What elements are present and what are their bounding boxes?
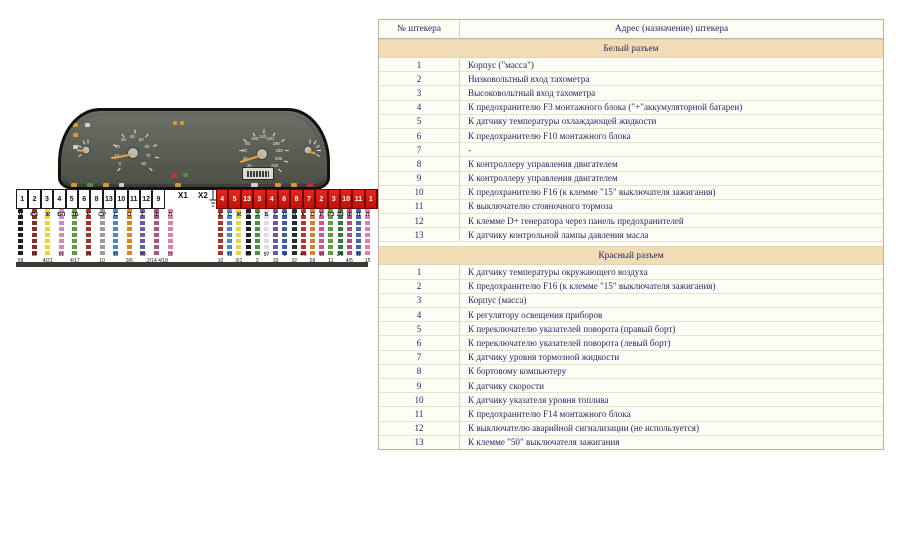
- left-wire-8-color-code: С: [114, 212, 118, 218]
- odometer-display: [242, 167, 274, 180]
- pin-address-cell: К предохранителю F3 монтажного блока ("+…: [460, 101, 883, 114]
- table-row: 8К контроллеру управления двигателем: [379, 157, 883, 171]
- right-wire-6-color-code: Б: [265, 212, 269, 218]
- pin-number-cell: 9: [379, 379, 460, 392]
- left-wire-9-color-code: О: [127, 212, 131, 218]
- pin-address-cell: -: [460, 143, 883, 156]
- telltale-icon-4: [73, 145, 78, 149]
- pin-address-cell: К датчику указателя уровня топлива: [460, 393, 883, 406]
- pin-number-cell: 1: [379, 58, 460, 71]
- bottom-telltale-5: [175, 183, 181, 187]
- table-row: 4К предохранителю F3 монтажного блока ("…: [379, 101, 883, 115]
- pin-address-cell: К переключателю указателей поворота (пра…: [460, 322, 883, 335]
- telltale-icon-2: [85, 123, 90, 127]
- right-wire-1-color-code: К: [219, 212, 222, 218]
- right-wire-7-color-code: Г: [274, 212, 277, 218]
- table-row: 3Корпус (масса): [379, 294, 883, 308]
- x2-pin-2[interactable]: 5: [228, 189, 240, 209]
- speedo-label-2: 60: [242, 149, 247, 153]
- right-wire-8: П: [282, 209, 287, 257]
- left-wire-1: Ч: [18, 209, 23, 257]
- telltale-icon-3: [73, 133, 78, 137]
- right-wire-2-color-code: С: [228, 212, 232, 218]
- left-wire-2: КЧ: [32, 209, 37, 257]
- table-row: 12К клемме D+ генератора через панель пр…: [379, 214, 883, 228]
- pin-number-cell: 7: [379, 351, 460, 364]
- pin-number-cell: 10: [379, 393, 460, 406]
- left-wire-4-tag: 51: [52, 253, 71, 258]
- left-wire-12: Л: [168, 209, 173, 257]
- table-row: 2Низковольтный вход тахометра: [379, 72, 883, 86]
- x2-pin-13[interactable]: 1: [365, 189, 377, 209]
- x1-pin-4[interactable]: 4: [53, 189, 65, 209]
- right-wire-11: О: [310, 209, 315, 257]
- pin-address-cell: К предохранителю F16 (к клемме "15" выкл…: [460, 280, 883, 293]
- left-wire-3: Ж: [45, 209, 50, 257]
- pin-address-cell: К регулятору освещения приборов: [460, 308, 883, 321]
- tach-label-3: 30: [121, 138, 126, 142]
- right-wire-15: Ф: [347, 209, 352, 257]
- bottom-telltale-9: [307, 183, 313, 187]
- table-row: 6К переключателю указателей поворота (ле…: [379, 336, 883, 350]
- left-wire-2-color-code: КЧ: [30, 212, 37, 218]
- instrument-cluster-diagram: 01020304050607080 2040608010012014016018…: [0, 0, 378, 540]
- pin-address-cell: К датчику контрольной лампы давления мас…: [460, 228, 883, 241]
- tach-label-6: 60: [145, 145, 150, 149]
- temperature-gauge: [293, 135, 323, 165]
- section-header-1: Белый разъем: [379, 39, 883, 58]
- right-wire-17-color-code: Л: [366, 212, 370, 218]
- gaugeL-tick-2: [78, 145, 82, 148]
- tach-tick-6: [153, 144, 157, 146]
- bottom-telltale-8: [291, 183, 297, 187]
- table-row: 12К выключателю аварийной сигнализации (…: [379, 422, 883, 436]
- right-wire-14-color-code: ЗЧ: [337, 212, 344, 218]
- header-pin-address: Адрес (назначение) штекера: [460, 20, 883, 38]
- left-wire-4: БП: [59, 209, 64, 257]
- pin-number-cell: 3: [379, 86, 460, 99]
- left-wire-10-color-code: Г: [141, 212, 144, 218]
- left-wire-7: СР: [100, 209, 105, 257]
- table-row: 13К клемме "50" выключателя зажигания: [379, 436, 883, 449]
- tach-tick-0: [118, 167, 122, 171]
- pin-number-cell: 13: [379, 228, 460, 241]
- right-wire-5-color-code: З: [256, 212, 259, 218]
- x1-pin-6[interactable]: 6: [78, 189, 90, 209]
- left-wire-12-color-code: Л: [168, 212, 172, 218]
- tach-label-0: 0: [119, 162, 121, 166]
- bottom-telltale-7: [275, 183, 281, 187]
- speedo-label-5: 120: [259, 135, 266, 139]
- tach-tick-8: [149, 167, 153, 171]
- left-wire-10: Г: [140, 209, 145, 257]
- pin-number-cell: 8: [379, 157, 460, 170]
- table-row: 7-: [379, 143, 883, 157]
- pin-number-cell: 2: [379, 72, 460, 85]
- pin-number-cell: 5: [379, 322, 460, 335]
- table-row: 13К датчику контрольной лампы давления м…: [379, 228, 883, 242]
- pin-address-cell: К контроллеру управления двигателем: [460, 157, 883, 170]
- pin-address-cell: К клемме D+ генератора через панель пред…: [460, 214, 883, 227]
- pin-number-cell: 12: [379, 214, 460, 227]
- left-wire-6: К: [86, 209, 91, 257]
- table-row: 3Высоковольтный вход тахометра: [379, 86, 883, 100]
- table-header-row: № штекера Адрес (назначение) штекера: [379, 20, 883, 39]
- tach-tick-4: [135, 130, 136, 134]
- right-wire-16-color-code: П: [357, 212, 361, 218]
- pin-address-cell: К предохранителю F10 монтажного блока: [460, 129, 883, 142]
- gaugeR-tick-0: [310, 140, 311, 144]
- gaugeL-tick-4: [88, 140, 89, 144]
- pin-number-cell: 2: [379, 280, 460, 293]
- left-wire-2-tag: 11: [25, 253, 44, 258]
- pin-address-cell: Низковольтный вход тахометра: [460, 72, 883, 85]
- pin-number-cell: 1: [379, 265, 460, 278]
- speedo-label-8: 180: [276, 149, 283, 153]
- pin-address-cell: К датчику температуры охлаждающей жидкос…: [460, 115, 883, 128]
- connector-x2-red[interactable]: 451334687231011112: [216, 189, 389, 209]
- harness-busbar: [16, 262, 368, 267]
- pin-address-cell: К датчику температуры окружающего воздух…: [460, 265, 883, 278]
- pin-number-cell: 13: [379, 436, 460, 449]
- right-wire-16: П: [356, 209, 361, 257]
- x1-pin-9[interactable]: 10: [115, 189, 127, 209]
- right-wire-3-color-code: Ж: [236, 212, 241, 218]
- right-wire-2: С: [227, 209, 232, 257]
- right-wire-9: Н: [292, 209, 297, 257]
- x1-pin-8[interactable]: 13: [103, 189, 115, 209]
- right-wire-10: К: [301, 209, 306, 257]
- hazard-warning-icon: [171, 173, 177, 178]
- x2-pin-10[interactable]: 3: [328, 189, 340, 209]
- speedo-tick-5: [264, 130, 265, 134]
- connector-x1-white[interactable]: 1234568131011129: [16, 189, 165, 209]
- connector-x1-label: X1: [178, 191, 188, 200]
- table-row: 1Корпус ("масса"): [379, 58, 883, 72]
- pin-number-cell: 12: [379, 422, 460, 435]
- left-wire-6-color-code: К: [87, 212, 90, 218]
- tach-label-8: 80: [141, 162, 146, 166]
- gaugeR-tick-2: [316, 145, 320, 148]
- right-wire-7: Г: [273, 209, 278, 257]
- right-wire-4-color-code: Ч: [246, 212, 250, 218]
- x1-pin-2[interactable]: 2: [28, 189, 40, 209]
- cluster-face: 01020304050607080 2040608010012014016018…: [65, 115, 323, 184]
- left-wire-4-color-code: БП: [57, 212, 65, 218]
- right-wire-13-color-code: РЗ: [327, 212, 334, 218]
- tach-label-5: 50: [139, 138, 144, 142]
- x2-pin-1[interactable]: 4: [216, 189, 228, 209]
- bottom-telltale-3: [103, 183, 109, 187]
- table-row: 5К датчику температуры охлаждающей жидко…: [379, 115, 883, 129]
- right-wire-13: РЗ: [328, 209, 333, 257]
- tach-tick-7: [155, 157, 159, 159]
- pin-address-cell: Высоковольтный вход тахометра: [460, 86, 883, 99]
- x1-pin-12[interactable]: 9: [152, 189, 164, 209]
- pin-address-cell: К выключателю аварийной сигнализации (не…: [460, 422, 883, 435]
- x2-pin-8[interactable]: 7: [303, 189, 315, 209]
- fuel-gauge: [71, 135, 101, 165]
- table-row: 9К датчику скорости: [379, 379, 883, 393]
- left-wire-8: С: [113, 209, 118, 257]
- right-wire-15-color-code: Ф: [347, 212, 352, 218]
- right-wire-10-color-code: К: [302, 212, 305, 218]
- x2-pin-3[interactable]: 13: [241, 189, 253, 209]
- pin-number-cell: 11: [379, 407, 460, 420]
- gaugeR-tick-3: [317, 150, 321, 151]
- bottom-telltale-2: [87, 183, 93, 187]
- left-wire-7-color-code: СР: [98, 212, 106, 218]
- left-wire-11-color-code: Ф: [154, 212, 159, 218]
- table-row: 1К датчику температуры окружающего возду…: [379, 265, 883, 279]
- x1-pin-7[interactable]: 8: [90, 189, 102, 209]
- x2-pin-7[interactable]: 8: [290, 189, 302, 209]
- right-wire-12-color-code: Р: [320, 212, 324, 218]
- right-wire-12: Р: [319, 209, 324, 257]
- table-body: Белый разъем1Корпус ("масса")2Низковольт…: [379, 39, 883, 449]
- x1-pin-11[interactable]: 12: [140, 189, 152, 209]
- header-pin-number: № штекера: [379, 20, 460, 38]
- section-header-2: Красный разъем: [379, 246, 883, 265]
- bottom-telltale-1: [71, 183, 77, 187]
- pin-address-cell: Корпус ("масса"): [460, 58, 883, 71]
- pin-number-cell: 9: [379, 172, 460, 185]
- bottom-telltale-4: [119, 183, 124, 187]
- pin-assignment-table: № штекера Адрес (назначение) штекера Бел…: [378, 19, 884, 450]
- right-wire-11-color-code: О: [310, 212, 314, 218]
- pin-number-cell: 4: [379, 101, 460, 114]
- tachometer-gauge: 01020304050607080: [105, 125, 161, 181]
- telltale-icon-1: [73, 123, 78, 127]
- x1-pin-1[interactable]: 1: [16, 189, 28, 209]
- pin-address-cell: К бортовому компьютеру: [460, 365, 883, 378]
- left-wire-3-color-code: Ж: [45, 212, 50, 218]
- tach-tick-5: [146, 133, 149, 137]
- table-row: 7К датчику уровня тормозной жидкости: [379, 351, 883, 365]
- pin-address-cell: К контроллеру управления двигателем: [460, 172, 883, 185]
- cluster-housing: 01020304050607080 2040608010012014016018…: [58, 108, 330, 190]
- left-wire-5: ЗБ: [72, 209, 77, 257]
- turn-signal-left-icon: [173, 121, 177, 125]
- left-wire-1-color-code: Ч: [19, 212, 23, 218]
- right-wire-5: З: [255, 209, 260, 257]
- tach-label-7: 70: [146, 154, 151, 158]
- left-wire-11: Ф: [154, 209, 159, 257]
- pin-number-cell: 4: [379, 308, 460, 321]
- pin-number-cell: 8: [379, 365, 460, 378]
- speedo-label-7: 160: [273, 142, 280, 146]
- pin-address-cell: К предохранителю F14 монтажного блока: [460, 407, 883, 420]
- table-row: 5К переключателю указателей поворота (пр…: [379, 322, 883, 336]
- pin-number-cell: 3: [379, 294, 460, 307]
- gaugeR-tick-1: [313, 141, 316, 145]
- x1-pin-3[interactable]: 3: [41, 189, 53, 209]
- right-wire-9-color-code: Н: [292, 212, 296, 218]
- pin-address-cell: К клемме "50" выключателя зажигания: [460, 436, 883, 449]
- speedo-label-3: 80: [245, 142, 250, 146]
- speedo-label-9: 200: [275, 157, 282, 161]
- x2-pin-5[interactable]: 4: [266, 189, 278, 209]
- pin-number-cell: 7: [379, 143, 460, 156]
- right-wire-6: Б: [264, 209, 269, 257]
- left-wire-8-tag: 11: [106, 253, 125, 258]
- table-row: 11К выключателю стояночного тормоза: [379, 200, 883, 214]
- pin-number-cell: 6: [379, 129, 460, 142]
- speedo-tick-8: [285, 150, 289, 152]
- table-row: 11К предохранителю F14 монтажного блока: [379, 407, 883, 421]
- x2-pin-9[interactable]: 2: [315, 189, 327, 209]
- gaugeL-needle: [78, 149, 86, 152]
- x1-pin-5[interactable]: 5: [66, 189, 78, 209]
- right-wire-4: Ч: [246, 209, 251, 257]
- pin-address-cell: Корпус (масса): [460, 294, 883, 307]
- gaugeR-tick-4: [316, 154, 320, 157]
- pin-number-cell: 5: [379, 115, 460, 128]
- gaugeL-tick-0: [78, 154, 82, 157]
- pin-number-cell: 6: [379, 336, 460, 349]
- x2-pin-11[interactable]: 10: [340, 189, 352, 209]
- left-wire-5-color-code: ЗБ: [71, 212, 78, 218]
- pin-number-cell: 11: [379, 200, 460, 213]
- left-wire-9: О: [127, 209, 132, 257]
- x1-pin-10[interactable]: 11: [128, 189, 140, 209]
- tach-label-4: 40: [130, 135, 135, 139]
- speedo-label-4: 100: [251, 137, 258, 141]
- x2-pin-12[interactable]: 11: [352, 189, 364, 209]
- table-row: 4К регулятору освещения приборов: [379, 308, 883, 322]
- center-indicator-strip: [165, 129, 187, 179]
- table-row: 8К бортовому компьютеру: [379, 365, 883, 379]
- bottom-telltale-6: [251, 183, 258, 187]
- pin-address-cell: К датчику уровня тормозной жидкости: [460, 351, 883, 364]
- instrument-cluster: 01020304050607080 2040608010012014016018…: [58, 108, 330, 190]
- right-wire-3: Ж: [236, 209, 241, 257]
- connector-x2-label: X2: [198, 191, 208, 200]
- table-row: 10К предохранителю F16 (к клемме "15" вы…: [379, 186, 883, 200]
- table-row: 9К контроллеру управления двигателем: [379, 172, 883, 186]
- table-row: 10К датчику указателя уровня топлива: [379, 393, 883, 407]
- table-row: 6К предохранителю F10 монтажного блока: [379, 129, 883, 143]
- x2-pin-6[interactable]: 6: [278, 189, 290, 209]
- main-beam-icon: [183, 173, 188, 177]
- page-root: 01020304050607080 2040608010012014016018…: [0, 0, 900, 540]
- right-wire-8-color-code: П: [283, 212, 287, 218]
- table-row: 2К предохранителю F16 (к клемме "15" вык…: [379, 280, 883, 294]
- pin-address-cell: К переключателю указателей поворота (лев…: [460, 336, 883, 349]
- turn-signal-right-icon: [180, 121, 184, 125]
- speedo-tick-10: [278, 169, 282, 173]
- left-wire-12-tag: 11: [161, 253, 180, 258]
- right-wire-14: ЗЧ: [338, 209, 343, 257]
- pin-number-cell: 10: [379, 186, 460, 199]
- tach-label-2: 20: [115, 145, 120, 149]
- right-wire-1: К: [218, 209, 223, 257]
- x2-pin-4[interactable]: 3: [253, 189, 265, 209]
- pin-address-cell: К датчику скорости: [460, 379, 883, 392]
- gaugeL-tick-3: [82, 141, 85, 145]
- left-wire-6-tag: 29: [79, 253, 98, 258]
- pin-address-cell: К выключателю стояночного тормоза: [460, 200, 883, 213]
- pin-address-cell: К предохранителю F16 (к клемме "15" выкл…: [460, 186, 883, 199]
- speedo-tick-9: [284, 161, 288, 163]
- right-wire-17: Л: [365, 209, 370, 257]
- speedo-tick-7: [281, 139, 285, 142]
